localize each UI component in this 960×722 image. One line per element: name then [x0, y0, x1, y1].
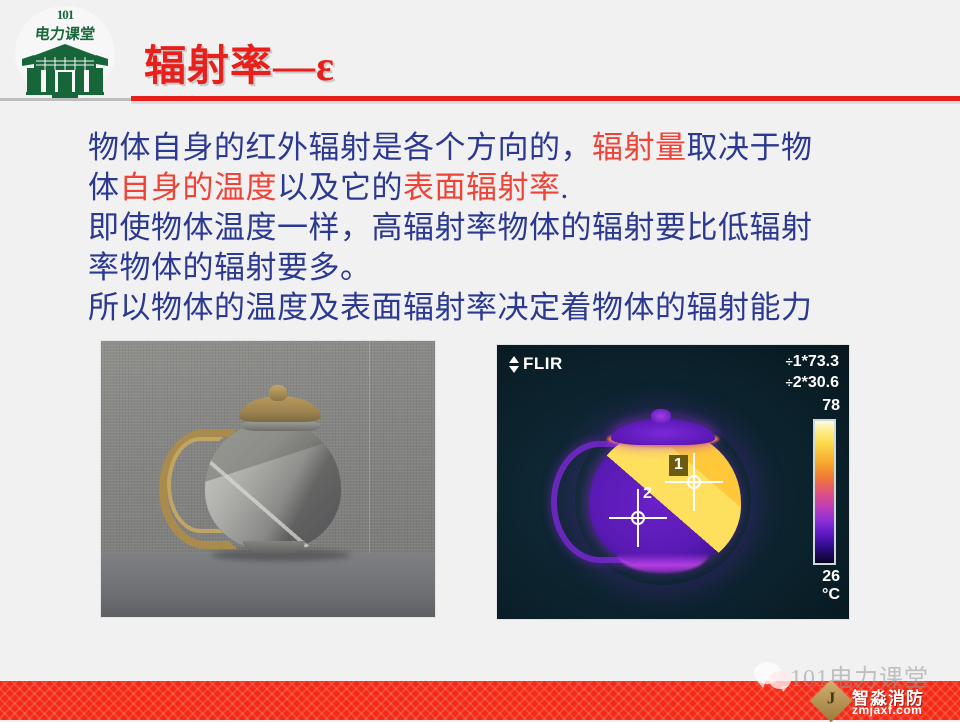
sponsor-badge: 智淼消防 zmjaxf.com — [826, 686, 950, 716]
crosshair-label-2: 2 — [643, 485, 652, 503]
crosshair-marker-icon: ÷ — [786, 375, 793, 390]
body-line-1: 物体自身的红外辐射是各个方向的，辐射量取决于物 — [88, 128, 888, 168]
wechat-bubble-small — [769, 671, 791, 689]
reading-row-1: ÷1*73.3 — [786, 351, 839, 372]
flir-wordmark: FLIR — [523, 354, 563, 374]
slide-canvas: 101 电力课堂 辐射率—ε — [0, 0, 960, 720]
body-seg-highlight: 表面辐射率 — [403, 170, 561, 205]
crosshair-label-1: 1 — [669, 455, 688, 476]
body-text-block: 物体自身的红外辐射是各个方向的，辐射量取决于物 体自身的温度以及它的表面辐射率.… — [88, 128, 888, 328]
body-seg-highlight: 自身的温度 — [120, 170, 278, 205]
temperature-color-scale: 78 26 °C — [794, 397, 840, 604]
photo-table-surface — [101, 553, 435, 617]
scale-unit-label: °C — [794, 586, 840, 604]
body-seg-highlight: 辐射量 — [592, 130, 687, 165]
watermark: 101电力课堂 智淼消防 zmjaxf.com — [722, 650, 952, 714]
body-seg: 物体自身的红外辐射是各个方向的， — [88, 130, 592, 165]
teapot-photo — [101, 341, 435, 617]
teapot-knob — [269, 385, 287, 401]
wechat-icon — [754, 662, 790, 690]
body-seg: 以及它的 — [277, 170, 403, 205]
crosshair-marker-icon: ÷ — [786, 354, 793, 369]
scale-min-label: 26 — [794, 568, 840, 586]
body-seg: 体 — [88, 170, 120, 205]
divider-gray-segment — [0, 98, 131, 101]
sponsor-url: zmjaxf.com — [852, 703, 922, 717]
body-line-2: 体自身的温度以及它的表面辐射率. — [88, 168, 888, 208]
divider-red-rule — [131, 96, 960, 101]
logo-name-text: 电力课堂 — [11, 23, 119, 44]
body-line-5: 所以物体的温度及表面辐射率决定着物体的辐射能力 — [88, 288, 888, 328]
thermal-readings: ÷1*73.3 ÷2*30.6 — [786, 351, 839, 393]
body-seg: 即使物体温度一样，高辐射率物体的辐射要比低辐射 — [88, 210, 813, 245]
reading-value-1: 1*73.3 — [793, 353, 839, 370]
body-seg: 所以物体的温度及表面辐射率决定着物体的辐射能力 — [88, 290, 813, 325]
teapot-diagonal-reflection — [205, 419, 345, 553]
thermal-teapot-knob — [651, 409, 671, 423]
thermal-image: FLIR ÷1*73.3 ÷2*30.6 1 — [497, 345, 849, 619]
page-title: 辐射率—ε — [144, 32, 335, 93]
scale-max-label: 78 — [794, 397, 840, 415]
body-seg: 取决于物 — [687, 130, 813, 165]
reading-row-2: ÷2*30.6 — [786, 372, 839, 393]
brand-logo: 101 电力课堂 — [12, 4, 118, 100]
crosshair-center-circle — [687, 475, 701, 489]
flir-diamond-icon — [508, 356, 521, 373]
photo-wall-seam — [369, 341, 370, 553]
reading-value-2: 2*30.6 — [793, 374, 839, 391]
flir-logo: FLIR — [508, 354, 563, 374]
body-line-4: 率物体的辐射要多。 — [88, 248, 888, 288]
scale-gradient-bar — [813, 419, 836, 565]
body-seg: 率物体的辐射要多。 — [88, 250, 372, 285]
crosshair-center-circle — [631, 511, 645, 525]
logo-number-text: 101 — [12, 7, 118, 23]
body-line-3: 即使物体温度一样，高辐射率物体的辐射要比低辐射 — [88, 208, 888, 248]
crosshair-point-2[interactable] — [609, 489, 667, 547]
logo-building-icon — [22, 42, 108, 98]
body-seg: . — [561, 170, 569, 205]
